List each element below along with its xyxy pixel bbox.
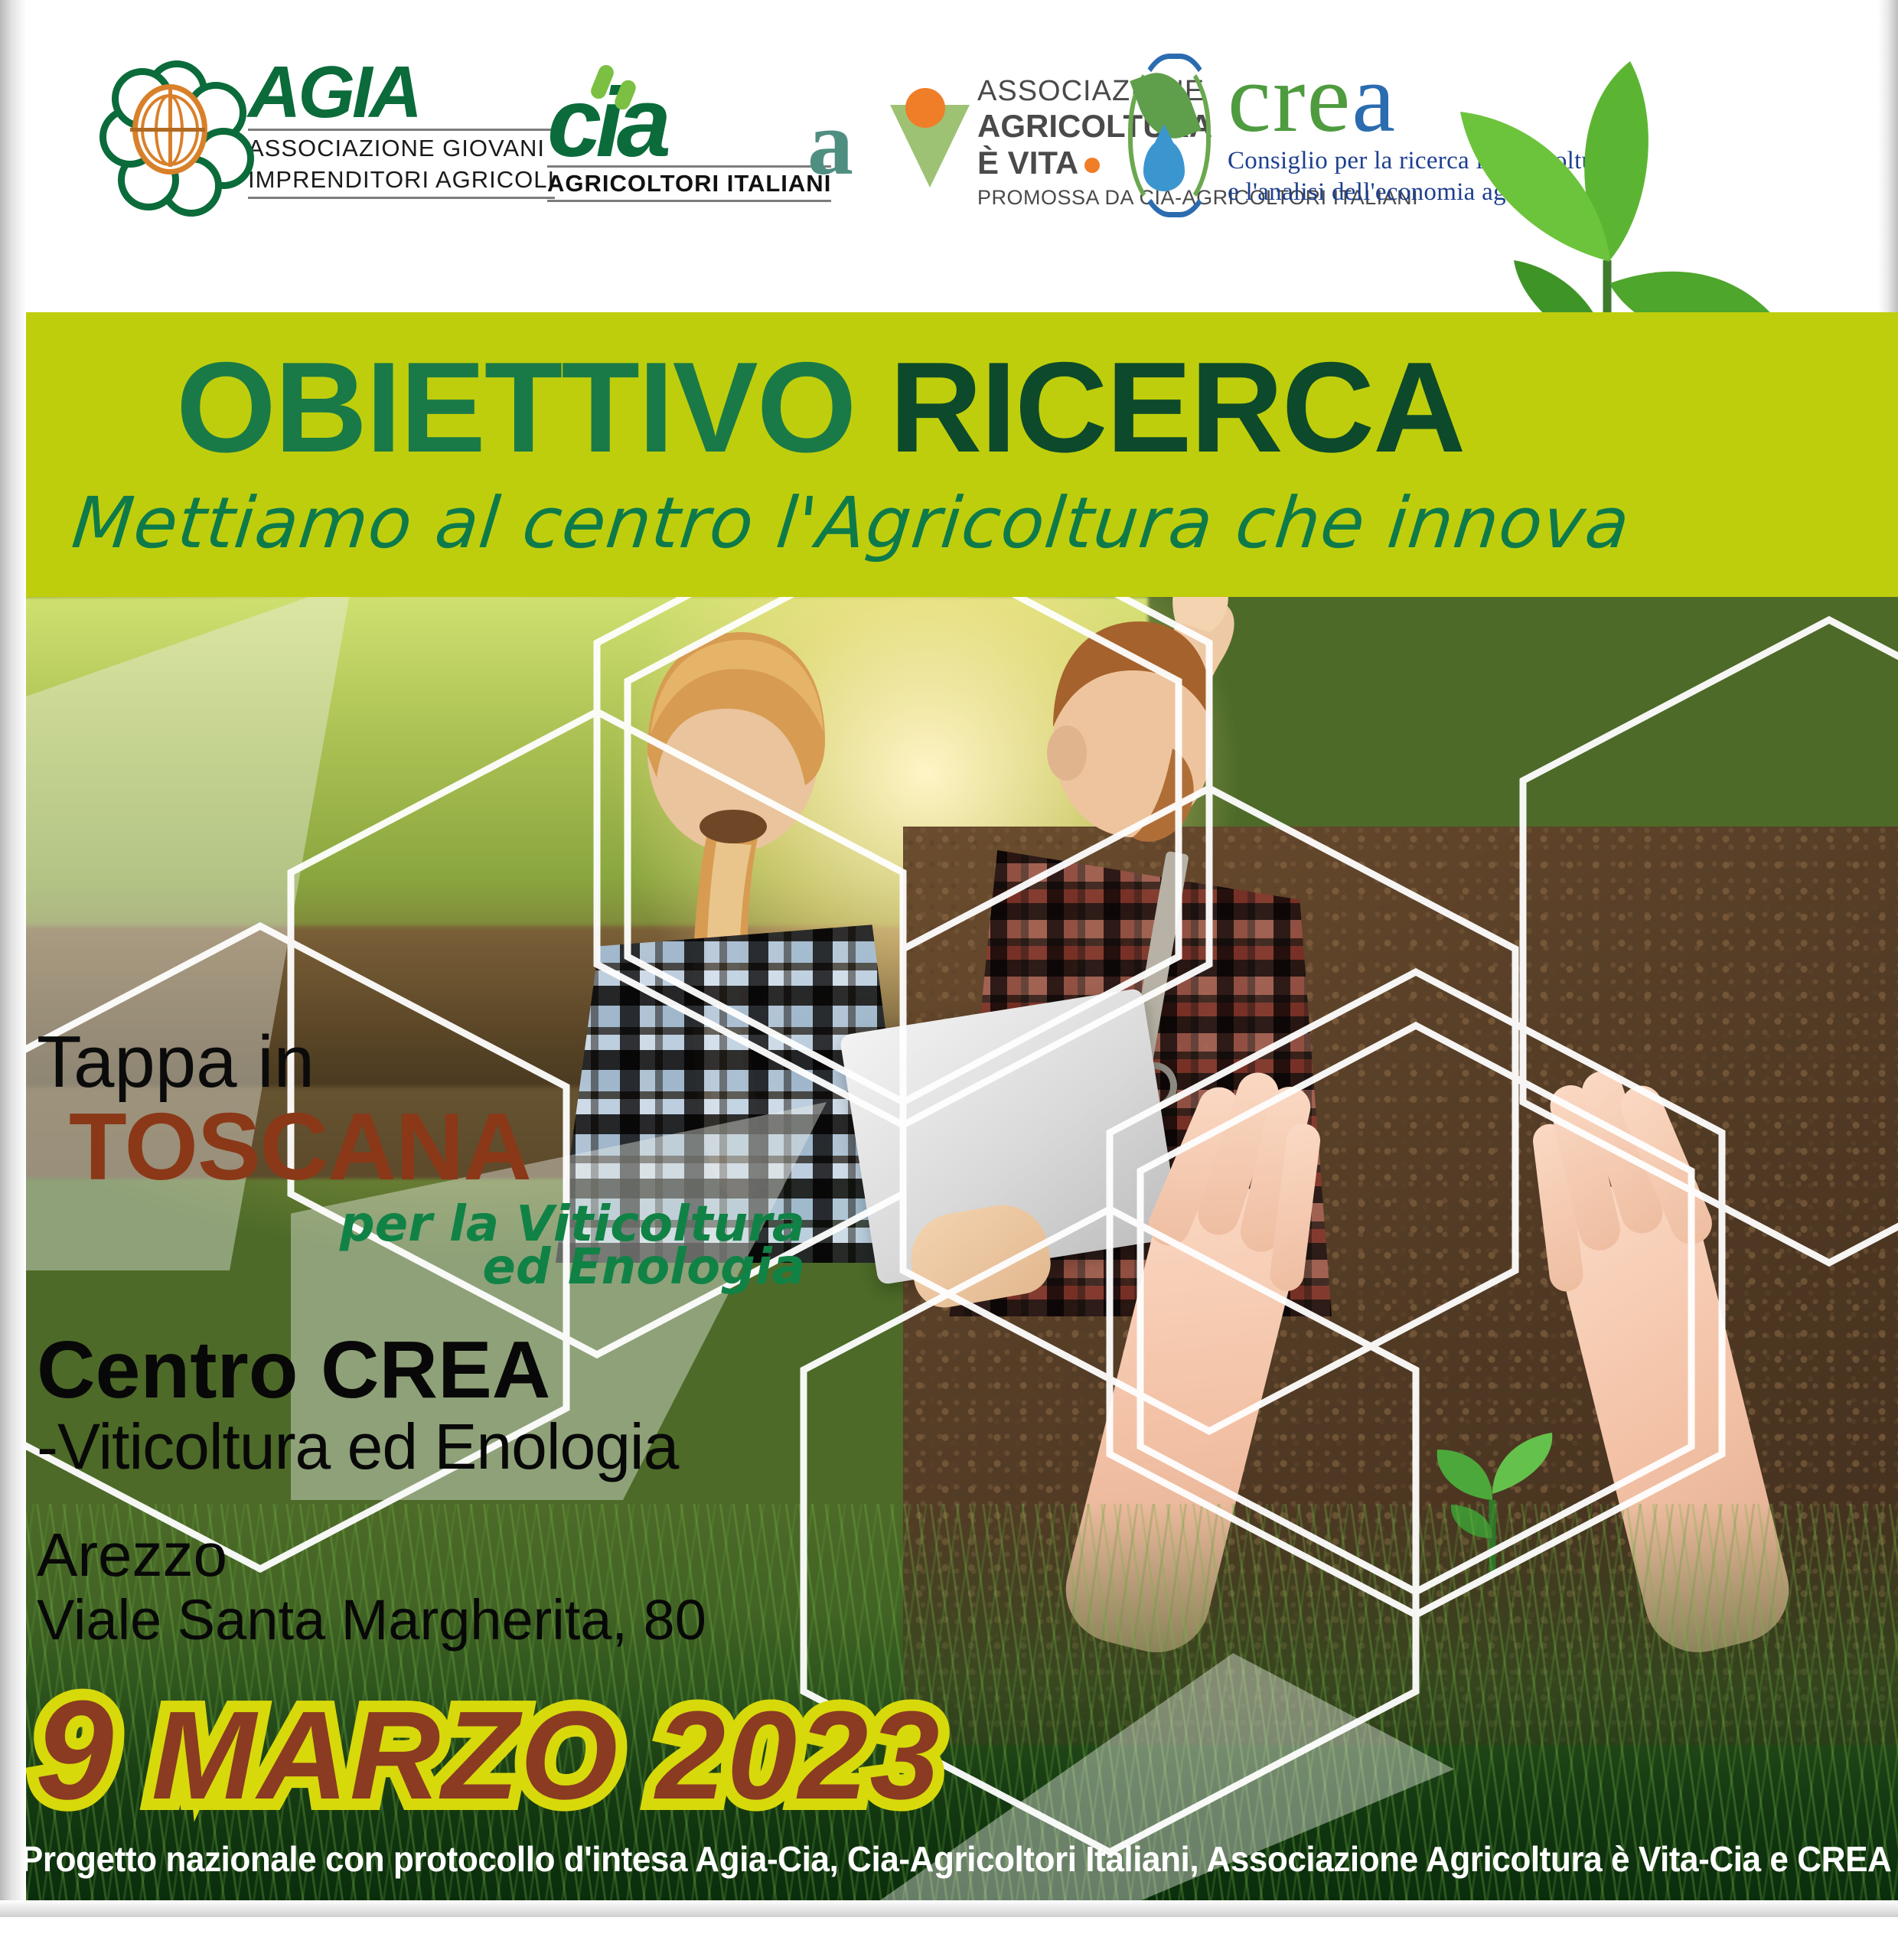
logo-agia[interactable]: AGIA ASSOCIAZIONE GIOVANI IMPRENDITORI A… [106,60,555,199]
logo-agia-subtitle-line2: IMPRENDITORI AGRICOLI [248,165,555,197]
event-date-month: MARZO [152,1685,619,1825]
stop-label: Tappa in [37,1026,817,1099]
av-person-icon: a [807,85,968,200]
event-poster: OBIETTIVO RICERCA Mettiamo al centro l'A… [0,0,1898,1960]
venue-department: -Viticoltura ed Enologia [37,1413,817,1480]
title-word-obiettivo: OBIETTIVO [176,335,855,479]
logo-agia-wordmark: AGIA [248,60,555,126]
event-date-year: 2023 [656,1685,941,1825]
event-date-day: 9 [35,1671,115,1828]
logo-agia-subtitle-line1: ASSOCIAZIONE GIOVANI [248,131,555,165]
region-name: TOSCANA [69,1099,817,1195]
cia-leaf-icon: cia [547,84,831,162]
event-details: Tappa in TOSCANA per la Viticoltura ed E… [37,1026,817,1652]
orange-dot-icon [1084,158,1100,173]
logo-crea-subtitle-line1: Consiglio per la ricerca in agricoltura [1228,145,1615,177]
partner-logo-band: AGIA ASSOCIAZIONE GIOVANI IMPRENDITORI A… [0,0,1898,312]
page-subtitle: Mettiamo al centro l'Agricoltura che inn… [68,482,1633,564]
title-word-ricerca: RICERCA [889,335,1464,479]
venue-name: Centro CREA [37,1328,817,1413]
logo-crea-wordmark: crea [1228,52,1615,145]
event-date: 9 MARZO 2023 [35,1668,941,1831]
page-title: OBIETTIVO RICERCA [176,343,1464,471]
logo-crea-subtitle-line2: e l'analisi dell'economia agraria [1228,177,1615,208]
venue-address: Viale Santa Margherita, 80 [37,1589,817,1651]
title-banner: OBIETTIVO RICERCA Mettiamo al centro l'A… [0,312,1898,597]
footer-note: Progetto nazionale con protocollo d'inte… [0,1829,1898,1889]
logo-cia[interactable]: cia AGRICOLTORI ITALIANI [547,84,831,202]
dna-helix-leaf-drop-icon [1125,54,1217,207]
logo-av-name-line3: È VITA [977,145,1078,181]
logo-crea[interactable]: crea Consiglio per la ricerca in agricol… [1125,52,1615,208]
footer-note-text: Progetto nazionale con protocollo d'inte… [0,1838,1891,1880]
venue-city: Arezzo [37,1521,817,1589]
flower-globe-icon [106,65,234,194]
page-edge-bottom [0,1902,1898,1960]
